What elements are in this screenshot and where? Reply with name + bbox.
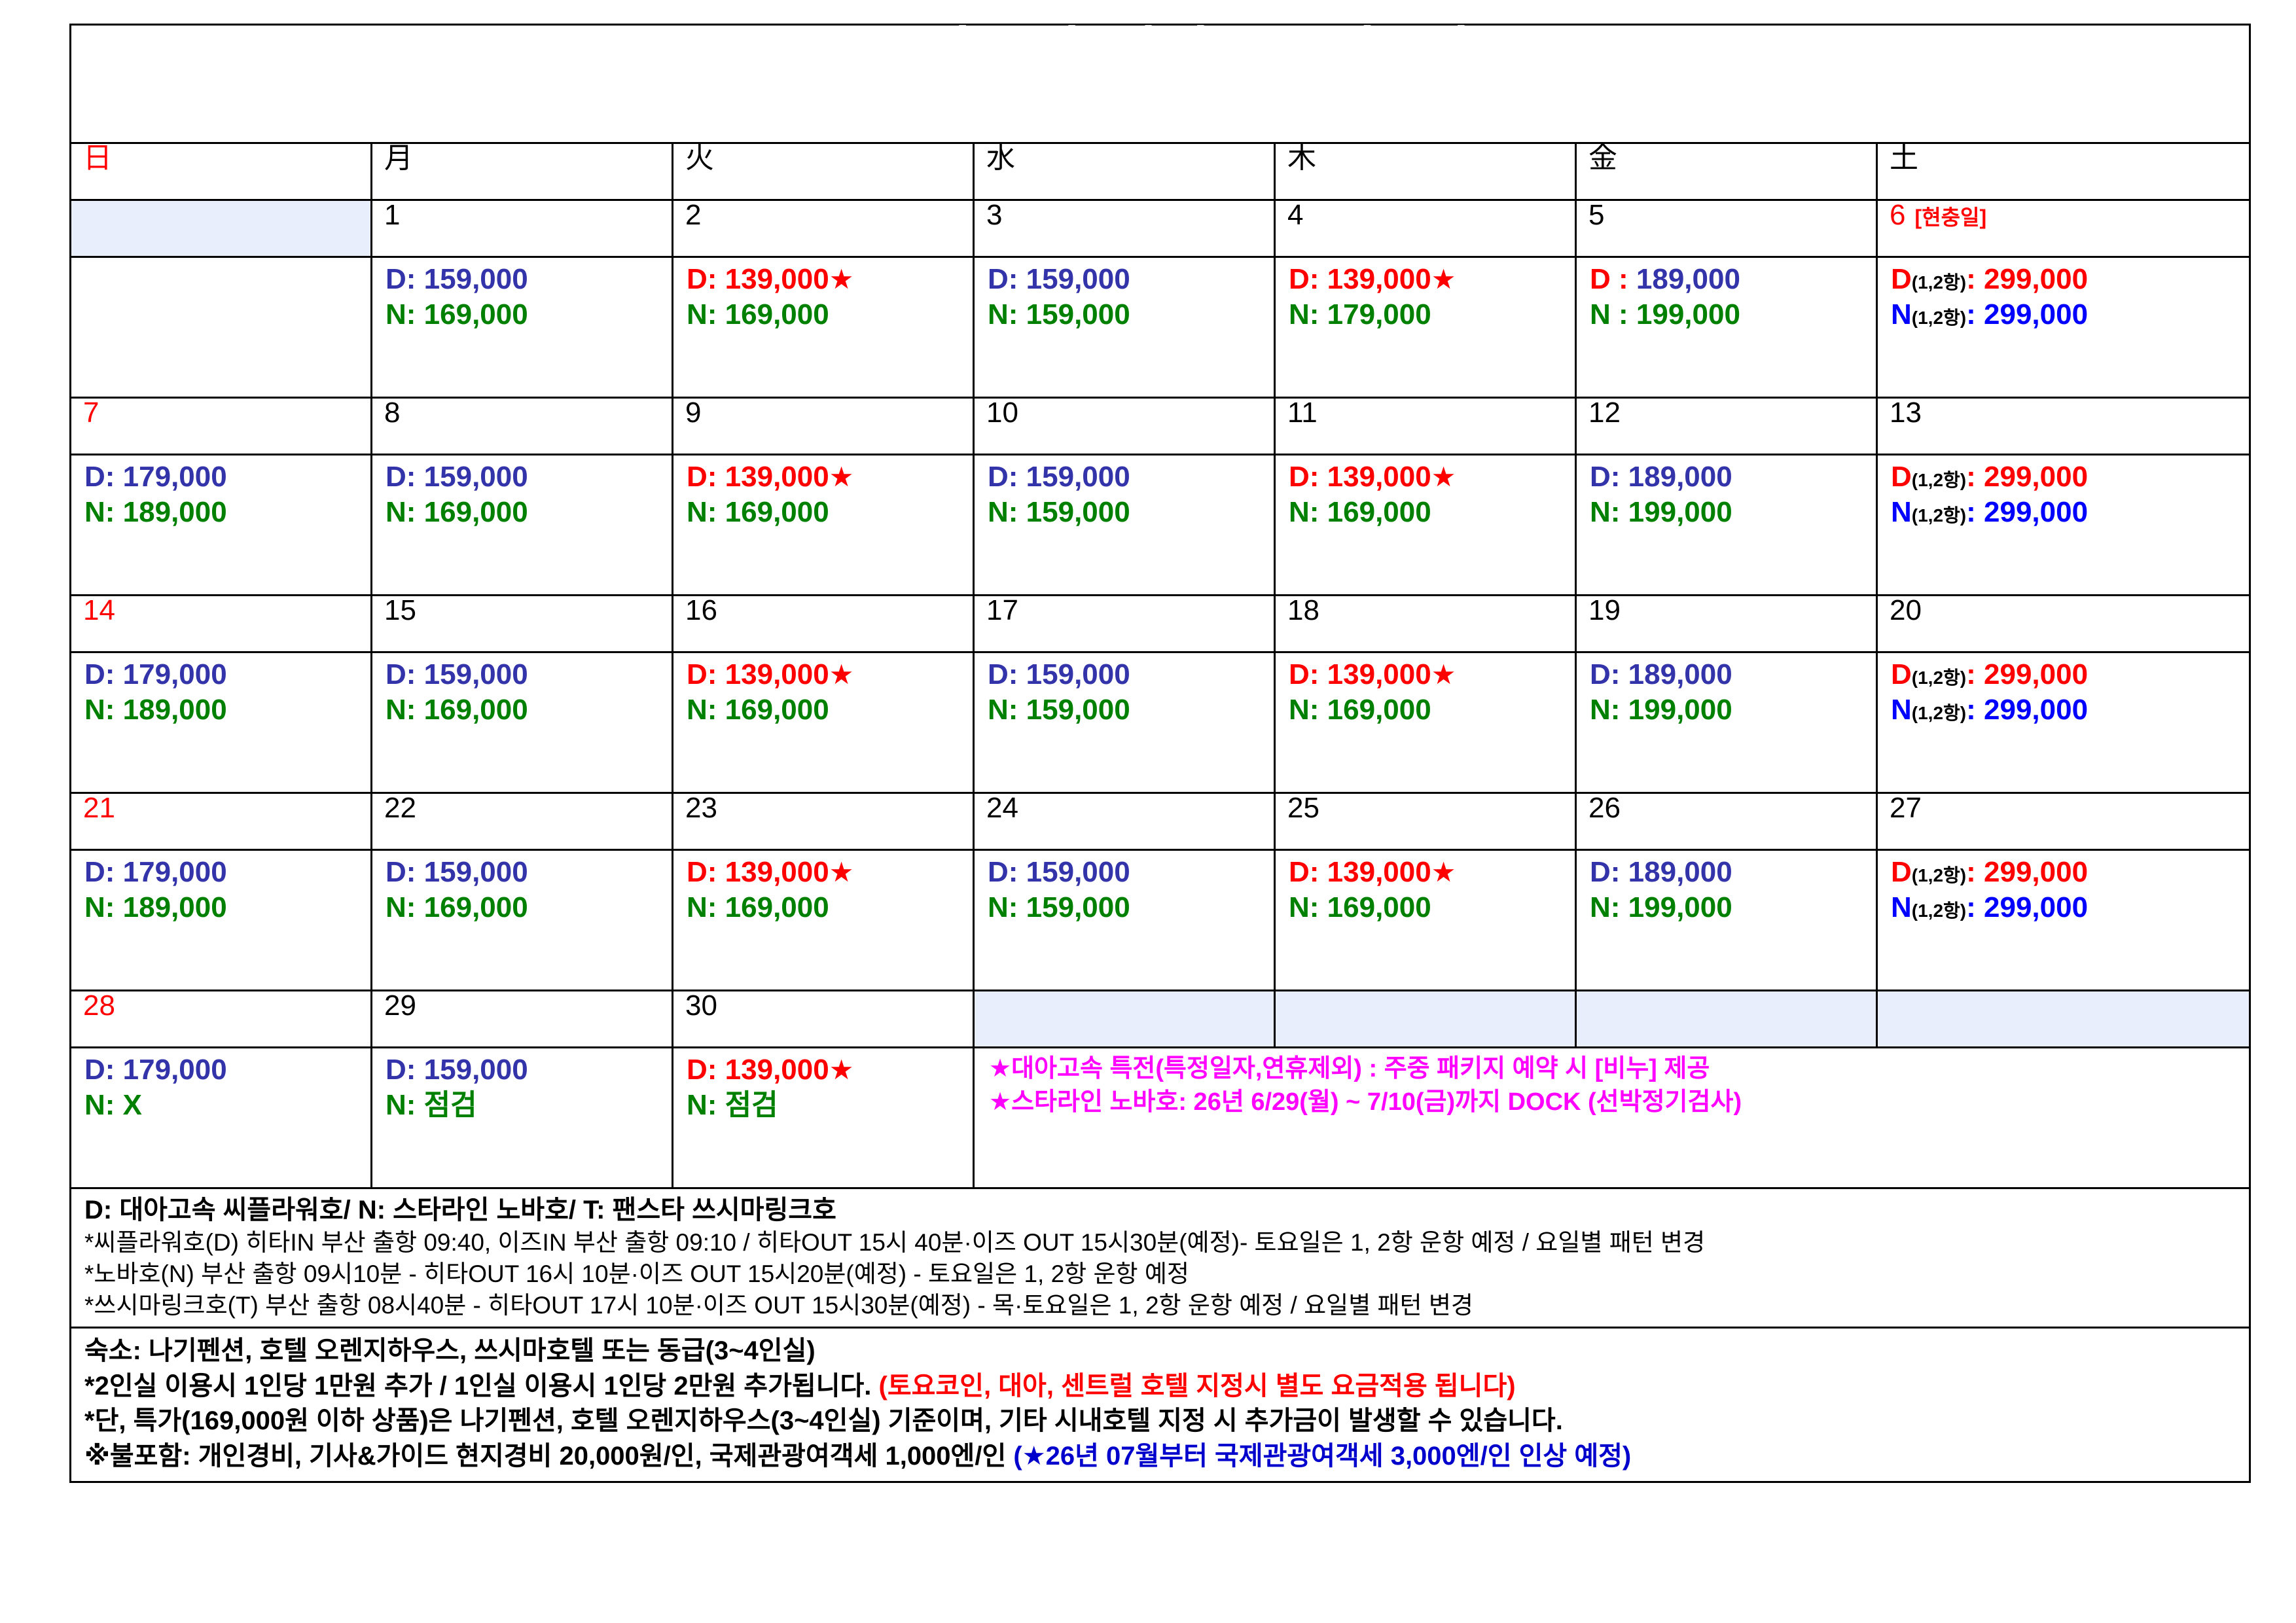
- date-cell[interactable]: 9: [673, 398, 974, 455]
- night-label: N:: [386, 496, 416, 528]
- night-label: N:: [1289, 891, 1319, 923]
- night-price-value: 159,000: [1026, 891, 1130, 923]
- date-cell[interactable]: 1: [372, 200, 673, 257]
- night-price-value: 199,000: [1628, 496, 1732, 528]
- night-label: N:: [386, 1089, 416, 1121]
- price-box: D: 159,000N: 159,000: [975, 455, 1274, 533]
- day-price-value: 139,000: [1327, 461, 1431, 493]
- day-number: 27: [1878, 794, 1922, 823]
- day-price-value: 189,000: [1636, 263, 1740, 295]
- night-price-line: N(1,2항): 299,000: [1891, 495, 2249, 530]
- price-cell[interactable]: D: 189,000N: 199,000: [1576, 455, 1877, 596]
- date-cell[interactable]: 16: [673, 596, 974, 652]
- price-cell[interactable]: D: 139,000★N: 169,000: [673, 257, 974, 398]
- price-cell[interactable]: D: 139,000★N: 169,000: [1275, 652, 1576, 793]
- night-price-line: N: 169,000: [687, 890, 973, 925]
- date-cell[interactable]: 30: [673, 991, 974, 1048]
- day-number: 8: [372, 399, 400, 427]
- colon-separator: :: [1966, 891, 1976, 923]
- weekday-header-cell: 日: [71, 143, 372, 200]
- day-label: D:: [1289, 461, 1319, 493]
- date-number-row: 123456[현충일]: [71, 200, 2250, 257]
- day-price-value: 139,000: [725, 1054, 829, 1086]
- day-number: 21: [71, 794, 115, 823]
- price-box: D : 189,000N : 199,000: [1577, 258, 1876, 336]
- date-cell[interactable]: 11: [1275, 398, 1576, 455]
- night-price-line: N: 169,000: [687, 692, 973, 728]
- night-label: N:: [988, 694, 1018, 726]
- day-price-line: D: 139,000★: [687, 459, 973, 495]
- price-cell[interactable]: D: 139,000★N: 169,000: [1275, 455, 1576, 596]
- night-price-value: X: [123, 1089, 142, 1121]
- calendar-page: 26년 6월 대마도 1박2일 日月火水木金土123456[현충일]D: 159…: [0, 0, 2296, 1623]
- date-cell[interactable]: 13: [1877, 398, 2250, 455]
- day-price-value: 159,000: [424, 1054, 528, 1086]
- special-price-condition-line: *단, 특가(169,000원 이하 상품)은 나기펜션, 호텔 오렌지하우스(…: [84, 1404, 2249, 1439]
- port-note: (1,2항): [1912, 505, 1966, 526]
- price-cell[interactable]: D(1,2항): 299,000N(1,2항): 299,000: [1877, 455, 2250, 596]
- night-price-line: N: 169,000: [386, 890, 672, 925]
- night-price-value: 169,000: [725, 496, 829, 528]
- price-row: D: 179,000N: XD: 159,000N: 점검D: 139,000★…: [71, 1048, 2250, 1188]
- price-box: D(1,2항): 299,000N(1,2항): 299,000: [1878, 455, 2249, 533]
- date-number-row: 282930: [71, 991, 2250, 1048]
- port-note: (1,2항): [1912, 470, 1966, 490]
- day-price-value: 139,000: [725, 658, 829, 690]
- day-price-line: D(1,2항): 299,000: [1891, 262, 2249, 297]
- empty-date-cell: [1576, 991, 1877, 1048]
- night-label: N:: [687, 891, 717, 923]
- promo-star-icon: ★: [1431, 264, 1456, 294]
- night-label: N:: [988, 496, 1018, 528]
- price-calendar-table: 26년 6월 대마도 1박2일 日月火水木金土123456[현충일]D: 159…: [69, 24, 2251, 1483]
- promo-star-icon: ★: [829, 264, 854, 294]
- price-box: D: 139,000★N: 169,000: [1276, 653, 1575, 731]
- price-cell[interactable]: D: 159,000N: 169,000: [372, 455, 673, 596]
- price-cell[interactable]: D: 189,000N: 199,000: [1576, 652, 1877, 793]
- day-price-line: D: 159,000: [386, 1052, 672, 1088]
- night-price-line: N: 점검: [687, 1088, 973, 1123]
- weekday-label: 火: [673, 142, 714, 174]
- price-cell[interactable]: D: 159,000N: 169,000: [372, 257, 673, 398]
- price-cell[interactable]: D(1,2항): 299,000N(1,2항): 299,000: [1877, 850, 2250, 991]
- day-label: D:: [386, 658, 416, 690]
- price-cell[interactable]: D: 159,000N: 159,000: [974, 455, 1275, 596]
- price-box: D: 159,000N: 169,000: [372, 455, 672, 533]
- day-label: D: [1891, 658, 1912, 690]
- promo-star-icon: ★: [829, 1054, 854, 1085]
- price-box: D: 159,000N: 159,000: [975, 258, 1274, 336]
- date-cell[interactable]: 23: [673, 793, 974, 850]
- price-box: D: 139,000★N: 169,000: [673, 653, 973, 731]
- day-number: 25: [1276, 794, 1319, 823]
- day-price-line: D: 139,000★: [687, 855, 973, 890]
- night-price-value: 169,000: [725, 694, 829, 726]
- price-cell[interactable]: D : 189,000N : 199,000: [1576, 257, 1877, 398]
- date-cell[interactable]: 3: [974, 200, 1275, 257]
- day-price-value: 159,000: [1026, 856, 1130, 888]
- night-price-value: 169,000: [1327, 496, 1431, 528]
- night-label: N:: [1289, 694, 1319, 726]
- price-cell[interactable]: D: 159,000N: 159,000: [974, 850, 1275, 991]
- price-cell[interactable]: D(1,2항): 299,000N(1,2항): 299,000: [1877, 257, 2250, 398]
- price-cell[interactable]: D: 159,000N: 점검: [372, 1048, 673, 1188]
- day-number: 9: [673, 399, 701, 427]
- ship-legend: D: 대아고속 씨플라워호/ N: 스타라인 노바호/ T: 팬스타 쓰시마링크…: [84, 1193, 2249, 1227]
- empty-date-cell: [1275, 991, 1576, 1048]
- promo-star-icon: ★: [1431, 659, 1456, 690]
- price-box: D: 179,000N: 189,000: [71, 851, 370, 929]
- price-cell[interactable]: D: 179,000N: 189,000: [71, 652, 372, 793]
- price-box: D(1,2항): 299,000N(1,2항): 299,000: [1878, 851, 2249, 929]
- day-label: D:: [988, 263, 1018, 295]
- day-price-value: 189,000: [1628, 658, 1732, 690]
- date-cell[interactable]: 15: [372, 596, 673, 652]
- price-box: D: 159,000N: 169,000: [372, 653, 672, 731]
- weekday-label: 木: [1276, 142, 1316, 174]
- night-price-line: N: 199,000: [1590, 495, 1876, 530]
- price-cell[interactable]: D: 139,000★N: 179,000: [1275, 257, 1576, 398]
- ship-notes-box: D: 대아고속 씨플라워호/ N: 스타라인 노바호/ T: 팬스타 쓰시마링크…: [71, 1189, 2249, 1327]
- weekday-label: 金: [1577, 142, 1617, 174]
- day-price-line: D: 159,000: [386, 657, 672, 692]
- date-cell[interactable]: 27: [1877, 793, 2250, 850]
- day-price-line: D: 159,000: [988, 262, 1274, 297]
- day-price-value: 159,000: [424, 658, 528, 690]
- day-label: D:: [687, 461, 717, 493]
- colon-separator: :: [1966, 496, 1976, 528]
- promo-notice-cell: ★대아고속 특전(특정일자,연휴제외) : 주중 패키지 예약 시 [비누] 제…: [974, 1048, 2250, 1188]
- price-box: D: 139,000★N: 179,000: [1276, 258, 1575, 336]
- footer-notes-cell: 숙소: 나기펜션, 호텔 오렌지하우스, 쓰시마호텔 또는 동급(3~4인실)*…: [71, 1328, 2250, 1482]
- day-label: D:: [1590, 658, 1620, 690]
- price-box: D: 139,000★N: 169,000: [1276, 851, 1575, 929]
- day-price-value: 179,000: [123, 856, 227, 888]
- night-label: N: [1891, 298, 1912, 330]
- date-cell[interactable]: 28: [71, 991, 372, 1048]
- room-surcharge-text: *2인실 이용시 1인당 1만원 추가 / 1인실 이용시 1인당 2만원 추가…: [84, 1372, 879, 1400]
- night-label: N:: [84, 1089, 115, 1121]
- night-price-line: N: 169,000: [1289, 890, 1575, 925]
- day-price-value: 139,000: [725, 856, 829, 888]
- night-price-value: 점검: [424, 1089, 477, 1121]
- empty-date-cell: [974, 991, 1275, 1048]
- accommodation-text: 숙소: 나기펜션, 호텔 오렌지하우스, 쓰시마호텔 또는 동급(3~4인실): [84, 1336, 816, 1365]
- price-box: D: 139,000★N: 169,000: [673, 851, 973, 929]
- day-number: 14: [71, 596, 115, 625]
- date-cell[interactable]: 2: [673, 200, 974, 257]
- day-number: 26: [1577, 794, 1621, 823]
- weekday-header-row: 日月火水木金土: [71, 143, 2250, 200]
- date-cell[interactable]: 19: [1576, 596, 1877, 652]
- night-price-value: 189,000: [123, 496, 227, 528]
- night-price-line: N: 189,000: [84, 692, 370, 728]
- day-price-line: D: 159,000: [386, 855, 672, 890]
- day-number: 1: [372, 201, 400, 230]
- colon-separator: :: [1966, 461, 1976, 493]
- night-label: N:: [84, 496, 115, 528]
- promo-line: ★대아고속 특전(특정일자,연휴제외) : 주중 패키지 예약 시 [비누] 제…: [989, 1052, 2249, 1086]
- day-label: D:: [988, 658, 1018, 690]
- day-label: D:: [84, 658, 115, 690]
- promo-star-icon: ★: [829, 659, 854, 690]
- date-cell[interactable]: 18: [1275, 596, 1576, 652]
- day-price-line: D(1,2항): 299,000: [1891, 657, 2249, 692]
- day-label: D:: [84, 461, 115, 493]
- night-label: N:: [84, 891, 115, 923]
- night-price-line: N: 159,000: [988, 890, 1274, 925]
- price-cell[interactable]: D: 139,000★N: 169,000: [673, 652, 974, 793]
- day-price-line: D: 189,000: [1590, 855, 1876, 890]
- night-label: N:: [988, 298, 1018, 330]
- day-price-value: 139,000: [725, 263, 829, 295]
- day-price-value: 159,000: [424, 263, 528, 295]
- price-cell[interactable]: D: 159,000N: 169,000: [372, 652, 673, 793]
- night-price-line: N : 199,000: [1590, 297, 1876, 332]
- night-price-line: N: 199,000: [1590, 692, 1876, 728]
- date-cell[interactable]: 10: [974, 398, 1275, 455]
- day-number: 24: [975, 794, 1018, 823]
- price-cell[interactable]: D: 159,000N: 169,000: [372, 850, 673, 991]
- weekday-header-cell: 月: [372, 143, 673, 200]
- night-price-line: N: 169,000: [1289, 692, 1575, 728]
- day-price-line: D(1,2항): 299,000: [1891, 459, 2249, 495]
- date-cell[interactable]: 14: [71, 596, 372, 652]
- night-price-value: 169,000: [424, 694, 528, 726]
- night-price-line: N: 169,000: [687, 297, 973, 332]
- price-cell[interactable]: D: 139,000★N: 점검: [673, 1048, 974, 1188]
- day-label: D:: [1289, 658, 1319, 690]
- day-label: D:: [1289, 263, 1319, 295]
- colon-separator: :: [1966, 658, 1976, 690]
- promo-star-icon: ★: [829, 461, 854, 492]
- night-price-value: 199,000: [1628, 694, 1732, 726]
- colon-separator: :: [1966, 263, 1976, 295]
- night-price-line: N: 179,000: [1289, 297, 1575, 332]
- date-cell[interactable]: 5: [1576, 200, 1877, 257]
- price-cell[interactable]: D: 159,000N: 159,000: [974, 652, 1275, 793]
- day-label: D:: [84, 856, 115, 888]
- night-price-value: 159,000: [1026, 694, 1130, 726]
- day-number: 10: [975, 399, 1018, 427]
- weekday-label: 日: [71, 142, 112, 174]
- promo-star-icon: ★: [1431, 857, 1456, 887]
- price-cell[interactable]: D: 179,000N: X: [71, 1048, 372, 1188]
- holiday-tag: [현충일]: [1914, 205, 1986, 229]
- price-box: D: 159,000N: 159,000: [975, 851, 1274, 929]
- day-label: D:: [687, 1054, 717, 1086]
- night-price-value: 299,000: [1984, 891, 2088, 923]
- price-box: D: 159,000N: 169,000: [372, 258, 672, 336]
- day-price-line: D: 179,000: [84, 1052, 370, 1088]
- day-price-value: 189,000: [1628, 856, 1732, 888]
- day-label: D:: [386, 263, 416, 295]
- day-label: D :: [1590, 263, 1628, 295]
- price-box: D(1,2항): 299,000N(1,2항): 299,000: [1878, 653, 2249, 731]
- day-number: 18: [1276, 596, 1319, 625]
- date-cell[interactable]: 22: [372, 793, 673, 850]
- day-number: 7: [71, 399, 99, 427]
- night-label: N:: [1590, 891, 1620, 923]
- room-surcharge-line: *2인실 이용시 1인당 1만원 추가 / 1인실 이용시 1인당 2만원 추가…: [84, 1369, 2249, 1404]
- day-label: D:: [386, 856, 416, 888]
- colon-separator: :: [1966, 694, 1976, 726]
- night-price-line: N: 169,000: [386, 495, 672, 530]
- night-price-line: N: 159,000: [988, 297, 1274, 332]
- weekday-header-cell: 金: [1576, 143, 1877, 200]
- day-price-line: D: 159,000: [386, 262, 672, 297]
- day-number: 22: [372, 794, 416, 823]
- night-price-value: 299,000: [1984, 694, 2088, 726]
- price-cell[interactable]: D: 139,000★N: 169,000: [673, 850, 974, 991]
- night-price-value: 199,000: [1628, 891, 1732, 923]
- date-cell[interactable]: 12: [1576, 398, 1877, 455]
- night-price-value: 169,000: [1327, 891, 1431, 923]
- date-cell[interactable]: 4: [1275, 200, 1576, 257]
- day-price-value: 159,000: [424, 461, 528, 493]
- price-box: D: 179,000N: 189,000: [71, 653, 370, 731]
- promo-star-icon: ★: [1431, 461, 1456, 492]
- day-price-line: D : 189,000: [1590, 262, 1876, 297]
- price-box: D: 139,000★N: 169,000: [673, 455, 973, 533]
- day-number: 12: [1577, 399, 1621, 427]
- day-label: D:: [687, 658, 717, 690]
- day-price-line: D: 159,000: [988, 855, 1274, 890]
- night-price-value: 점검: [725, 1089, 778, 1121]
- day-label: D:: [1289, 856, 1319, 888]
- day-price-value: 299,000: [1984, 263, 2088, 295]
- price-row: D: 179,000N: 189,000D: 159,000N: 169,000…: [71, 850, 2250, 991]
- night-price-value: 189,000: [123, 694, 227, 726]
- date-cell[interactable]: 25: [1275, 793, 1576, 850]
- night-price-line: N: X: [84, 1088, 370, 1123]
- price-cell[interactable]: D: 179,000N: 189,000: [71, 850, 372, 991]
- day-number: 15: [372, 596, 416, 625]
- date-number-row: 78910111213: [71, 398, 2250, 455]
- day-label: D: [1891, 856, 1912, 888]
- day-number: 3: [975, 201, 1002, 230]
- date-cell[interactable]: 7: [71, 398, 372, 455]
- day-price-line: D: 179,000: [84, 855, 370, 890]
- hotel-surcharge-warning: (토요코인, 대아, 센트럴 호텔 지정시 별도 요금적용 됩니다): [879, 1372, 1516, 1400]
- night-label: N:: [687, 694, 717, 726]
- night-price-value: 169,000: [424, 891, 528, 923]
- price-box: D: 179,000N: 189,000: [71, 455, 370, 533]
- weekday-header-cell: 土: [1877, 143, 2250, 200]
- night-label: N :: [1590, 298, 1628, 330]
- weekday-label: 月: [372, 142, 413, 174]
- day-label: D: [1891, 461, 1912, 493]
- night-price-line: N(1,2항): 299,000: [1891, 890, 2249, 925]
- night-price-line: N: 159,000: [988, 495, 1274, 530]
- price-cell[interactable]: D: 159,000N: 159,000: [974, 257, 1275, 398]
- date-cell[interactable]: 29: [372, 991, 673, 1048]
- date-cell[interactable]: 6[현충일]: [1877, 200, 2250, 257]
- date-cell[interactable]: 26: [1576, 793, 1877, 850]
- accommodation-line: 숙소: 나기펜션, 호텔 오렌지하우스, 쓰시마호텔 또는 동급(3~4인실): [84, 1334, 2249, 1369]
- day-price-line: D: 159,000: [988, 657, 1274, 692]
- promo-line: ★스타라인 노바호: 26년 6/29(월) ~ 7/10(금)까지 DOCK …: [989, 1086, 2249, 1119]
- night-label: N:: [84, 694, 115, 726]
- price-row: D: 179,000N: 189,000D: 159,000N: 169,000…: [71, 455, 2250, 596]
- day-price-value: 299,000: [1984, 461, 2088, 493]
- day-price-value: 139,000: [1327, 658, 1431, 690]
- night-price-value: 159,000: [1026, 298, 1130, 330]
- price-box: D: 159,000N: 점검: [372, 1048, 672, 1126]
- day-number: 16: [673, 596, 717, 625]
- night-price-line: N: 169,000: [687, 495, 973, 530]
- price-box: D: 159,000N: 169,000: [372, 851, 672, 929]
- night-label: N:: [1590, 496, 1620, 528]
- price-cell[interactable]: D: 139,000★N: 169,000: [673, 455, 974, 596]
- price-box: D(1,2항): 299,000N(1,2항): 299,000: [1878, 258, 2249, 336]
- date-cell[interactable]: 17: [974, 596, 1275, 652]
- night-price-value: 299,000: [1984, 496, 2088, 528]
- day-price-value: 139,000: [725, 461, 829, 493]
- page-title: 26년 6월 대마도 1박2일: [71, 26, 2249, 86]
- day-price-line: D: 189,000: [1590, 459, 1876, 495]
- day-price-value: 179,000: [123, 461, 227, 493]
- day-label: D:: [1590, 461, 1620, 493]
- port-note: (1,2항): [1912, 901, 1966, 921]
- weekday-header-cell: 火: [673, 143, 974, 200]
- day-number: 4: [1276, 201, 1303, 230]
- day-number: 28: [71, 991, 115, 1020]
- night-price-line: N(1,2항): 299,000: [1891, 692, 2249, 728]
- date-cell[interactable]: 20: [1877, 596, 2250, 652]
- night-price-line: N: 169,000: [1289, 495, 1575, 530]
- night-price-line: N: 189,000: [84, 495, 370, 530]
- day-price-line: D: 189,000: [1590, 657, 1876, 692]
- price-cell[interactable]: D: 189,000N: 199,000: [1576, 850, 1877, 991]
- price-cell[interactable]: D: 179,000N: 189,000: [71, 455, 372, 596]
- colon-separator: :: [1966, 856, 1976, 888]
- day-label: D:: [84, 1054, 115, 1086]
- night-price-value: 189,000: [123, 891, 227, 923]
- day-label: D:: [386, 461, 416, 493]
- day-price-value: 299,000: [1984, 856, 2088, 888]
- price-cell[interactable]: D: 139,000★N: 169,000: [1275, 850, 1576, 991]
- day-price-line: D: 159,000: [988, 459, 1274, 495]
- date-cell[interactable]: 24: [974, 793, 1275, 850]
- empty-date-cell: [1877, 991, 2250, 1048]
- exclusions-text: ※불포함: 개인경비, 기사&가이드 현지경비 20,000원/인, 국제관광여…: [84, 1442, 1013, 1471]
- day-price-value: 159,000: [424, 856, 528, 888]
- ship-schedule-line: *씨플라워호(D) 히타IN 부산 출항 09:40, 이즈IN 부산 출항 0…: [84, 1227, 2249, 1258]
- price-box: D: 189,000N: 199,000: [1577, 851, 1876, 929]
- day-number: 23: [673, 794, 717, 823]
- night-price-value: 169,000: [424, 298, 528, 330]
- date-cell[interactable]: 21: [71, 793, 372, 850]
- day-price-value: 159,000: [1026, 263, 1130, 295]
- footer-notes-row: 숙소: 나기펜션, 호텔 오렌지하우스, 쓰시마호텔 또는 동급(3~4인실)*…: [71, 1328, 2250, 1482]
- day-number: 19: [1577, 596, 1621, 625]
- day-price-value: 179,000: [123, 1054, 227, 1086]
- night-price-line: N(1,2항): 299,000: [1891, 297, 2249, 332]
- price-cell[interactable]: D(1,2항): 299,000N(1,2항): 299,000: [1877, 652, 2250, 793]
- night-price-line: N: 159,000: [988, 692, 1274, 728]
- colon-separator: :: [1966, 298, 1976, 330]
- night-label: N: [1891, 891, 1912, 923]
- night-label: N:: [988, 891, 1018, 923]
- day-number: 2: [673, 201, 701, 230]
- night-price-value: 299,000: [1984, 298, 2088, 330]
- calendar-title-cell: 26년 6월 대마도 1박2일: [71, 25, 2250, 143]
- night-label: N: [1891, 496, 1912, 528]
- day-price-value: 179,000: [123, 658, 227, 690]
- date-cell[interactable]: 8: [372, 398, 673, 455]
- night-label: N:: [386, 891, 416, 923]
